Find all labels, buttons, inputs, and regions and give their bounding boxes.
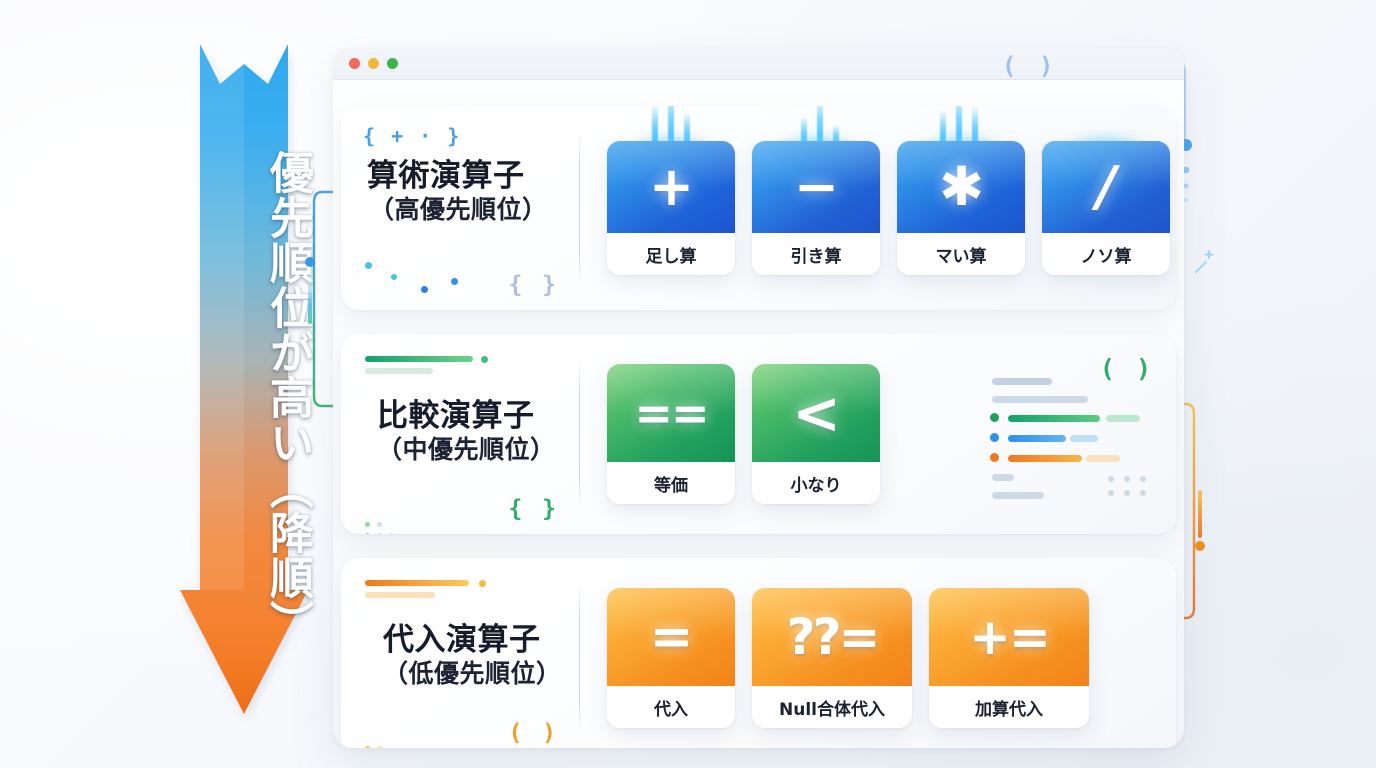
card-assignment-operators: 代入演算子 （低優先順位） ( )	[341, 558, 1176, 748]
operator-label: 引き算	[752, 233, 880, 275]
operator-symbol-less-than-icon: <	[792, 384, 840, 442]
operator-tile-add-assign[interactable]: += 加算代入	[929, 588, 1089, 728]
operator-tile-null-coalescing-assign[interactable]: ??= Null合体代入	[752, 588, 912, 728]
operator-tile-assign[interactable]: = 代入	[607, 588, 735, 728]
operator-label: ノソ算	[1042, 233, 1170, 275]
card-arithmetic-subtitle: （高優先順位）	[363, 195, 569, 225]
operator-label: Null合体代入	[752, 686, 912, 728]
code-brace-icon: { }	[508, 272, 559, 298]
card-comparison-title: 比較演算子	[377, 398, 569, 435]
operator-symbol-slash-icon: /	[1097, 160, 1116, 214]
card-comparison-header: 比較演算子 （中優先順位）	[341, 334, 579, 534]
operator-label: 代入	[607, 686, 735, 728]
operator-tile-less-than[interactable]: < 小なり	[752, 364, 880, 504]
operator-label: マい算	[897, 233, 1025, 275]
code-paren-icon: ( )	[508, 720, 559, 746]
decorative-bars	[363, 352, 569, 380]
operator-tile-divide[interactable]: / ノソ算	[1042, 141, 1170, 275]
card-assignment-subtitle: （低優先順位）	[363, 659, 569, 689]
window-minimize-button[interactable]	[368, 58, 379, 69]
operator-symbol-minus-icon: −	[794, 160, 838, 214]
operator-symbol-plus-equals-icon: +=	[969, 612, 1049, 662]
assignment-tile-list: = 代入 ??= Null合体代入 +=	[579, 558, 1176, 748]
card-assignment-header: 代入演算子 （低優先順位） ( )	[341, 558, 579, 748]
operator-symbol-null-coalescing-icon: ??=	[787, 612, 878, 662]
window-maximize-button[interactable]	[387, 58, 398, 69]
comparison-tile-list: == 等価 < 小なり ( )	[579, 334, 1176, 534]
operator-label: 等価	[607, 462, 735, 504]
decorative-bars	[363, 576, 569, 604]
card-arithmetic-operators: { + · } 算術演算子 （高優先順位） { }	[341, 106, 1176, 310]
card-comparison-subtitle: （中優先順位）	[363, 435, 569, 465]
operator-label: 加算代入	[929, 686, 1089, 728]
code-brace-icon: { }	[508, 496, 559, 522]
operator-label: 足し算	[607, 233, 735, 275]
operator-tile-add[interactable]: + 足し算	[607, 141, 735, 275]
operator-label: 小なり	[752, 462, 880, 504]
operator-tile-equality[interactable]: == 等価	[607, 364, 735, 504]
card-comparison-operators: 比較演算子 （中優先順位）	[341, 334, 1176, 534]
app-window: { + · } 算術演算子 （高優先順位） { }	[333, 48, 1184, 748]
operator-symbol-equality-icon: ==	[634, 390, 707, 436]
code-brace-plus-icon: { + · }	[363, 124, 461, 148]
operator-tile-subtract[interactable]: − 引き算	[752, 141, 880, 275]
decorative-paren-icon: ( )	[1002, 52, 1057, 80]
code-snippet-mock: ( )	[980, 356, 1160, 506]
operator-symbol-plus-icon: +	[649, 160, 693, 214]
priority-arrow-label: 優先順位が高い（降順）	[178, 150, 310, 645]
card-arithmetic-title: 算術演算子	[367, 158, 569, 195]
priority-arrow: 優先順位が高い（降順）	[178, 42, 310, 722]
arithmetic-tile-list: + 足し算 −	[579, 106, 1176, 310]
card-assignment-title: 代入演算子	[383, 622, 569, 659]
operator-tile-multiply[interactable]: ✱ マい算	[897, 141, 1025, 275]
card-arithmetic-header: { + · } 算術演算子 （高優先順位） { }	[341, 106, 579, 310]
code-paren-icon: ( )	[1100, 354, 1154, 383]
operator-symbol-asterisk-icon: ✱	[939, 160, 983, 214]
window-close-button[interactable]	[349, 58, 360, 69]
operator-symbol-equals-icon: =	[650, 611, 693, 663]
